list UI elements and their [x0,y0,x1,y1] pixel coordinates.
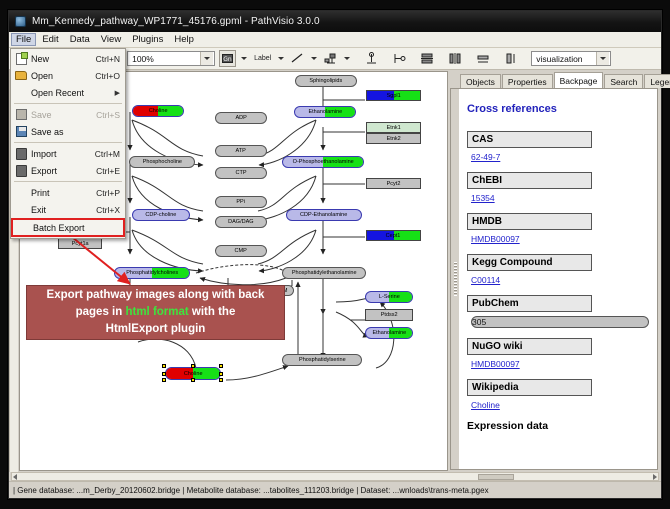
menu-help[interactable]: Help [169,33,199,46]
node-label: Pcyt1a [72,241,89,247]
export-icon [11,163,31,178]
datanode-tool-icon[interactable]: Gn [219,50,236,67]
node-label: Cept1 [386,233,401,239]
menu-accelerator: Ctrl+E [96,166,123,176]
align-top-icon[interactable] [363,50,380,67]
xref-value: 305 [471,316,649,328]
scrollbar-thumb[interactable] [478,474,514,480]
menu-item-label: Export [31,166,96,176]
distribute-vertical-icon[interactable] [418,50,436,67]
pathway-node[interactable]: ATP [215,145,267,157]
node-label: ADP [235,115,246,121]
backpage-panel: Cross references CAS62-49-7ChEBI15354HMD… [450,88,658,470]
xref-link[interactable]: C00114 [471,275,649,285]
selection-handle[interactable] [162,364,166,368]
cross-references-list: CAS62-49-7ChEBI15354HMDBHMDB00097Kegg Co… [467,131,649,410]
label-dropdown-icon[interactable] [277,57,285,60]
svg-text:Gn: Gn [223,56,232,63]
same-height-icon[interactable] [502,50,519,67]
import-icon [11,146,31,161]
menu-item-exit[interactable]: ExitCtrl+X [11,201,125,218]
pathway-node[interactable]: L-Serine [365,291,413,303]
menu-accelerator: Ctrl+X [96,205,123,215]
menu-accelerator: Ctrl+M [95,149,123,159]
cross-references-title: Cross references [467,103,649,115]
menu-accelerator: Ctrl+O [95,71,123,81]
pathway-node[interactable]: Etnk2 [366,133,421,144]
pathway-node[interactable]: Sphingolipids [295,75,357,87]
menu-item-print[interactable]: PrintCtrl+P [11,184,125,201]
menu-item-new[interactable]: NewCtrl+N [11,50,125,67]
pathway-node[interactable]: Phosphocholine [129,156,195,168]
menu-item-open[interactable]: OpenCtrl+O [11,67,125,84]
tab-backpage[interactable]: Backpage [554,72,604,88]
menu-item-label: Batch Export [33,223,118,233]
menu-file[interactable]: File [11,33,36,46]
menu-data[interactable]: Data [65,33,95,46]
selection-handle[interactable] [191,364,195,368]
chevron-down-icon [200,52,213,65]
pathway-node[interactable]: Ethanolamine [365,327,413,339]
annotation-highlight: html format [125,306,188,318]
node-label: Sphingolipids [310,78,343,84]
menu-item-label: Save [31,110,96,120]
xref-db-header: PubChem [467,295,592,312]
save-as-icon [11,124,31,139]
menu-plugins[interactable]: Plugins [127,33,168,46]
menu-item-save: SaveCtrl+S [11,106,125,123]
menu-item-export[interactable]: ExportCtrl+E [11,162,125,179]
menu-item-label: Save as [31,127,120,137]
tab-objects[interactable]: Objects [460,74,501,88]
sidebar-splitter[interactable] [451,89,459,469]
annotation-line-3: HtmlExport plugin [106,323,206,335]
node-label: Etnk2 [386,136,400,142]
node-label: CMP [235,248,247,254]
node-label: Choline [149,108,168,114]
status-bar: | Gene database: ...m_Derby_20120602.bri… [9,481,661,498]
menu-accelerator: Ctrl+S [96,110,123,120]
pathway-node[interactable]: CDP-Ethanolamine [286,209,362,221]
xref-link[interactable]: HMDB00097 [471,359,649,369]
pathway-node[interactable]: Pcyt1a [58,238,102,249]
node-label: Phosphocholine [142,159,181,165]
label-tool-icon[interactable]: Label [252,50,273,67]
selection-handle[interactable] [219,372,223,376]
selection-handle[interactable] [219,378,223,382]
pathway-node[interactable]: Pcyt2 [366,178,421,189]
tab-search[interactable]: Search [604,74,643,88]
node-label: CDP-choline [146,212,177,218]
node-label: Pcyt2 [387,181,401,187]
node-label: Sgpl1 [386,93,400,99]
no-icon [11,202,31,217]
horizontal-scrollbar[interactable] [11,472,659,481]
node-label: Choline [184,371,203,377]
no-icon [13,220,33,235]
tab-properties[interactable]: Properties [502,74,553,88]
sidebar: Objects Properties Backpage Search Legen… [449,70,661,472]
menu-accelerator: Ctrl+P [96,188,123,198]
node-label: CDP-Ethanolamine [300,212,347,218]
node-label: PPi [237,199,246,205]
line-dropdown-icon[interactable] [310,57,318,60]
no-icon [11,85,31,100]
xref-db-header: NuGO wiki [467,338,592,355]
node-label: ATP [236,148,246,154]
pathway-node[interactable]: Phosphatidylethanolamine [282,267,366,279]
annotation-line-1: Export pathway images along with back [47,289,265,301]
xref-db-header: Kegg Compound [467,254,592,271]
pathway-node[interactable]: ADP [215,112,267,124]
menu-separator [14,181,122,182]
pathway-node[interactable]: Etnk1 [366,122,421,133]
receptor-dropdown-icon[interactable] [343,57,351,60]
menu-accelerator: Ctrl+N [96,54,123,64]
menu-item-open-recent[interactable]: Open Recent▶ [11,84,125,101]
pathway-node[interactable]: Ethanolamine [294,106,356,118]
menu-item-batch-export[interactable]: Batch Export [11,218,125,237]
pathway-node[interactable]: CTP [215,167,267,179]
node-label: O-Phosphoethanolamine [292,159,353,165]
menu-item-label: Open Recent [31,88,115,98]
no-icon [11,185,31,200]
xref-link[interactable]: 62-49-7 [471,152,649,162]
xref-db-header: ChEBI [467,172,592,189]
menu-item-label: Exit [31,205,96,215]
selection-handle[interactable] [162,372,166,376]
save-icon [11,107,31,122]
sidebar-tabs: Objects Properties Backpage Search Legen… [450,72,658,88]
node-label: CTP [235,170,246,176]
new-document-icon [11,51,31,66]
datanode-dropdown-icon[interactable] [240,57,248,60]
xref-db-header: HMDB [467,213,592,230]
node-label: Etnk1 [386,125,400,131]
menu-item-import[interactable]: ImportCtrl+M [11,145,125,162]
menu-view[interactable]: View [96,33,126,46]
selection-handle[interactable] [191,378,195,382]
same-width-icon[interactable] [474,50,492,67]
distribute-horizontal-icon[interactable] [446,50,464,67]
zoom-combobox[interactable]: 100% [127,51,215,66]
chevron-down-icon [596,52,609,65]
annotation-line-2b: with the [189,306,236,318]
pathway-node[interactable]: PPi [215,196,267,208]
tab-legend[interactable]: Legend [644,74,670,88]
zoom-value: 100% [132,54,154,64]
node-label: DAG/DAG [228,219,253,225]
pathway-node[interactable]: Sgpl1 [366,90,421,101]
pathway-node[interactable]: O-Phosphoethanolamine [282,156,364,168]
status-area: | Gene database: ...m_Derby_20120602.bri… [9,472,661,498]
expression-data-title: Expression data [467,420,649,432]
node-label: Phosphatidylcholines [126,270,178,276]
line-tool-icon[interactable] [289,50,306,67]
annotation-callout: Export pathway images along with back pa… [26,285,285,340]
annotation-line-2a: pages in [76,306,126,318]
node-label: Ethanolamine [308,109,342,115]
pathway-node[interactable]: Phosphatidylcholines [114,267,190,279]
menu-separator [14,142,122,143]
pathway-node[interactable]: Choline [132,105,184,117]
xref-db-header: CAS [467,131,592,148]
pathway-node[interactable]: CMP [215,245,267,257]
menu-item-label: Import [31,149,95,159]
pathvisio-window: Mm_Kennedy_pathway_WP1771_45176.gpml - P… [8,10,662,499]
pathway-node[interactable]: CDP-choline [132,209,190,221]
menu-item-label: Print [31,188,96,198]
visualization-combobox[interactable]: visualization [531,51,611,66]
node-label: L-Serine [379,294,400,300]
pathway-node[interactable]: Cept1 [366,230,421,241]
selection-handle[interactable] [162,378,166,382]
file-menu-popup[interactable]: NewCtrl+NOpenCtrl+OOpen Recent▶SaveCtrl+… [10,48,126,239]
xref-link[interactable]: 15354 [471,193,649,203]
node-label: Ptdss2 [381,312,398,318]
menu-edit[interactable]: Edit [37,33,63,46]
submenu-arrow-icon: ▶ [115,89,123,97]
open-folder-icon [11,68,31,83]
visualization-value: visualization [536,54,582,64]
node-label: Ethanolamine [372,330,406,336]
node-label: Phosphatidylethanolamine [292,270,357,276]
align-left-icon[interactable] [390,50,408,67]
node-label: Phosphatidylserine [299,357,346,363]
pathway-node[interactable]: Ptdss2 [365,309,413,321]
menu-separator [14,103,122,104]
receptor-tool-icon[interactable] [322,50,339,67]
menu-item-save-as[interactable]: Save as [11,123,125,140]
backpage-content: Cross references CAS62-49-7ChEBI15354HMD… [459,89,657,469]
xref-db-header: Wikipedia [467,379,592,396]
menu-item-label: Open [31,71,95,81]
xref-link[interactable]: HMDB00097 [471,234,649,244]
menu-bar: File Edit Data View Plugins Help [9,32,661,48]
window-title: Mm_Kennedy_pathway_WP1771_45176.gpml - P… [32,16,320,27]
app-icon [15,16,26,27]
xref-link[interactable]: Choline [471,400,649,410]
pathway-node[interactable]: DAG/DAG [215,216,267,228]
title-bar: Mm_Kennedy_pathway_WP1771_45176.gpml - P… [9,11,661,32]
selection-handle[interactable] [219,364,223,368]
menu-item-label: New [31,54,96,64]
pathway-node[interactable]: Phosphatidylserine [282,354,362,366]
